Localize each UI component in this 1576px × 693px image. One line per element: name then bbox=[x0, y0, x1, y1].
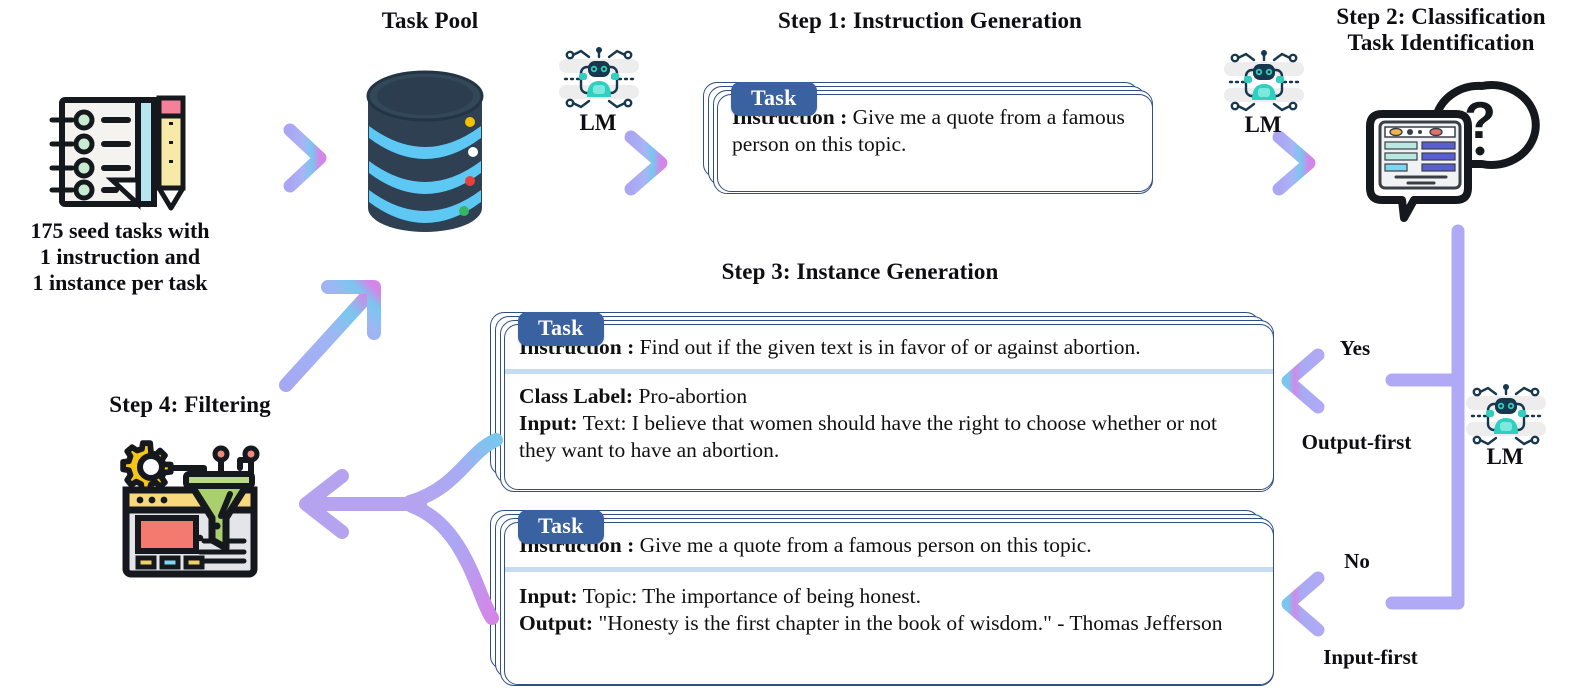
card-text-input: Topic: The importance of being honest. bbox=[583, 584, 921, 608]
diagram-canvas: 175 seed tasks with 1 instruction and 1 … bbox=[0, 0, 1576, 693]
branch-label-output-first: Output-first bbox=[1274, 430, 1439, 455]
card-label-output: Output: bbox=[519, 611, 593, 635]
branch-label-yes: Yes bbox=[1300, 336, 1410, 361]
card-line-instruction: Instruction : Give me a quote from a fam… bbox=[519, 532, 1259, 559]
card-label-input: Input: bbox=[519, 584, 578, 608]
classification-tablet-question-icon: ? bbox=[1352, 76, 1532, 221]
step3-classification-task-card: Instruction : Find out if the given text… bbox=[490, 312, 1275, 490]
card-label-class-label: Class Label: bbox=[519, 384, 633, 408]
task-badge-step3-classification: Task bbox=[518, 312, 604, 346]
arrow-seed-to-pool bbox=[190, 120, 340, 190]
task-pool-title: Task Pool bbox=[345, 8, 515, 34]
card-line-instruction: Instruction : Find out if the given text… bbox=[519, 334, 1259, 361]
card-text-instruction: Give me a quote from a famous person on … bbox=[640, 533, 1092, 557]
arrow-filtering-to-pool bbox=[270, 275, 430, 405]
lm-robot-icon-3 bbox=[1464, 382, 1548, 452]
task-pool-database-icon bbox=[360, 68, 490, 243]
card-text-class-label: Pro-abortion bbox=[638, 384, 747, 408]
card-line-output: Output: "Honesty is the first chapter in… bbox=[519, 610, 1259, 637]
step3-title: Step 3: Instance Generation bbox=[660, 259, 1060, 285]
lm-label-2: LM bbox=[1220, 112, 1306, 138]
task-badge-step3-generation: Task bbox=[518, 510, 604, 544]
branch-label-input-first: Input-first bbox=[1288, 645, 1453, 670]
card-line-input: Input: Topic: The importance of being ho… bbox=[519, 583, 1259, 610]
step1-title: Step 1: Instruction Generation bbox=[710, 8, 1150, 34]
card-text-input: Text: I believe that women should have t… bbox=[519, 411, 1217, 462]
filtering-icon bbox=[118, 438, 266, 580]
lm-robot-icon-1 bbox=[557, 45, 641, 115]
card-body-top: Instruction : Give me a quote from a fam… bbox=[505, 523, 1273, 567]
lm-robot-icon-2 bbox=[1222, 48, 1306, 118]
task-badge-step1: Task bbox=[731, 82, 817, 116]
lm-label-3: LM bbox=[1462, 444, 1548, 470]
step3-generation-task-card: Instruction : Give me a quote from a fam… bbox=[490, 510, 1275, 685]
card-label-input: Input: bbox=[519, 411, 578, 435]
card-front: Instruction : Find out if the given text… bbox=[504, 324, 1274, 490]
card-body-top: Instruction : Find out if the given text… bbox=[505, 325, 1273, 369]
arrow-cards-to-filtering bbox=[290, 430, 510, 650]
card-line-class-label: Class Label: Pro-abortion bbox=[519, 383, 1259, 410]
seed-tasks-caption: 175 seed tasks with 1 instruction and 1 … bbox=[0, 218, 240, 296]
arrow-no-to-generation-card bbox=[1272, 571, 1412, 643]
card-front: Instruction : Give me a quote from a fam… bbox=[504, 522, 1274, 685]
card-text-instruction: Find out if the given text is in favor o… bbox=[640, 335, 1141, 359]
arrow-pool-to-step1 bbox=[535, 125, 685, 195]
card-text-output: "Honesty is the first chapter in the boo… bbox=[598, 611, 1222, 635]
step4-title: Step 4: Filtering bbox=[80, 392, 300, 418]
card-body-bottom: Class Label: Pro-abortion Input: Text: I… bbox=[505, 374, 1273, 474]
branch-label-no: No bbox=[1302, 549, 1412, 574]
card-body-bottom: Input: Topic: The importance of being ho… bbox=[505, 572, 1273, 647]
step2-title: Step 2: Classification Task Identificati… bbox=[1306, 4, 1576, 56]
seed-tasks-icon bbox=[46, 92, 186, 214]
step1-task-card: Instruction : Give me a quote from a fam… bbox=[703, 82, 1153, 192]
card-line-input: Input: Text: I believe that women should… bbox=[519, 410, 1259, 464]
